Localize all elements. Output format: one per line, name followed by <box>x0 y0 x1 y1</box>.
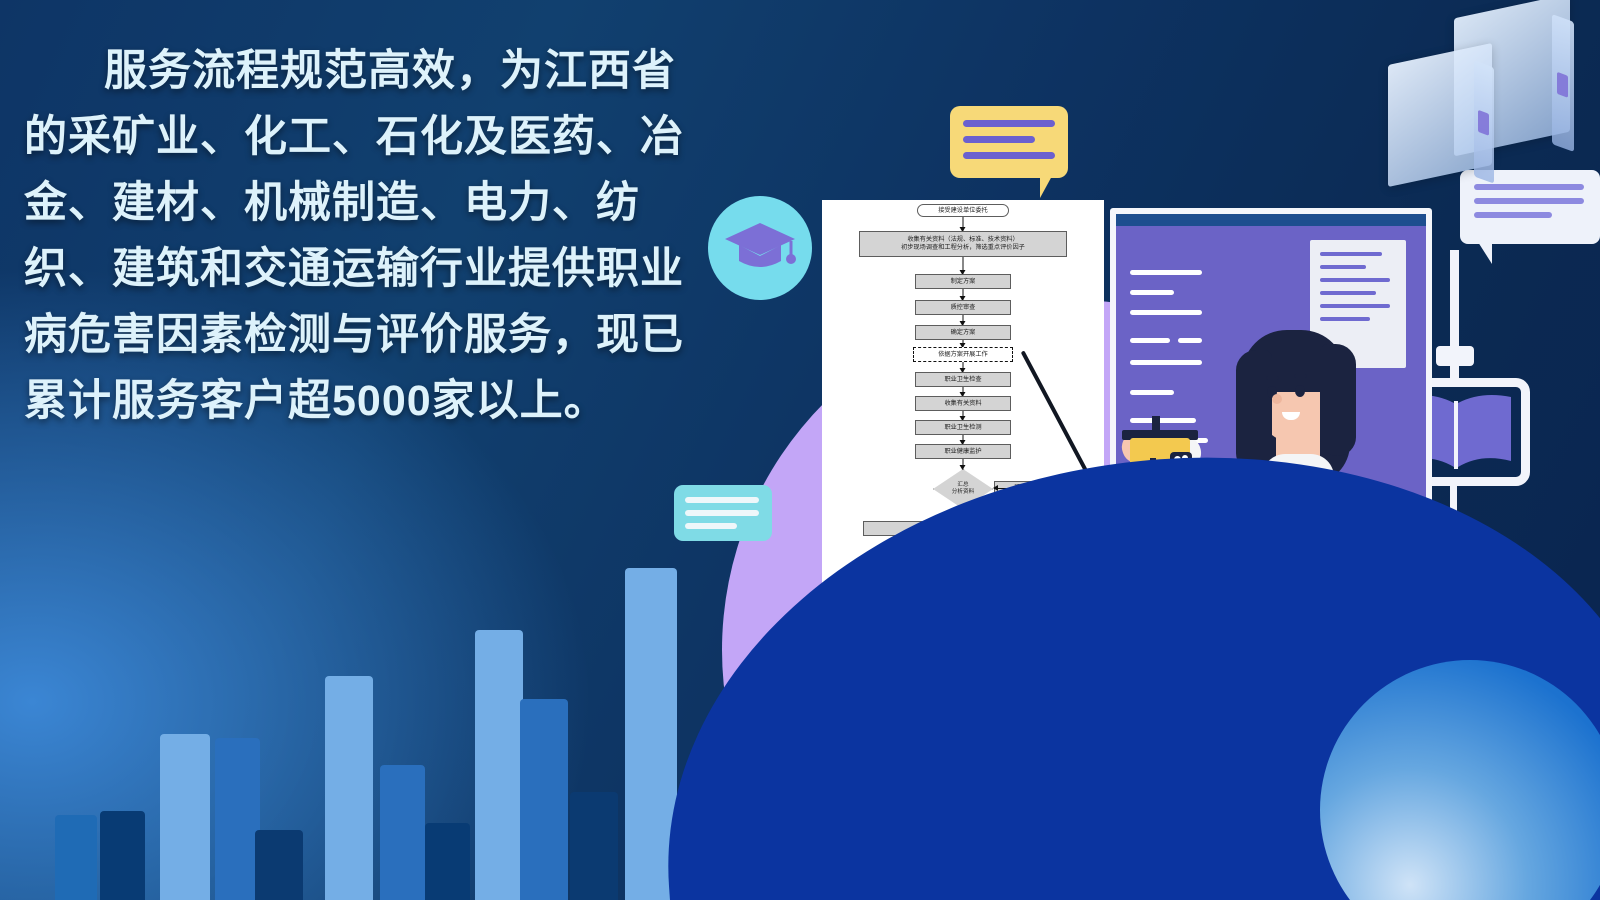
book-tab <box>1478 110 1489 136</box>
poster-line <box>1320 252 1382 256</box>
nose <box>1272 394 1282 404</box>
bubble-line <box>963 120 1055 127</box>
flow-step-collect: 收集有关资料（法规、标准、技术资料） 初步现场调查和工程分析，筛选重点评价因子 <box>859 231 1067 257</box>
board-line <box>1130 360 1202 365</box>
chart-bar <box>325 676 373 900</box>
speech-bubble-white <box>1460 170 1600 244</box>
board-line <box>1130 390 1174 395</box>
flow-arrow <box>963 315 964 325</box>
bubble-tail <box>1040 176 1052 198</box>
board-line <box>1130 338 1170 343</box>
headline-line-2: 的采矿业、化工、石化及医药、冶 <box>24 104 769 170</box>
bubble-line <box>1474 184 1584 190</box>
flow-arrow <box>963 217 964 231</box>
bubble-line <box>685 510 759 516</box>
flow-step-gather: 收集有关资料 <box>915 396 1011 411</box>
flow-step-accept: 接受建设单位委托 <box>917 204 1009 217</box>
flow-arrow <box>963 362 964 372</box>
bubble-tail <box>1478 242 1492 264</box>
chart-bar <box>520 699 568 900</box>
poster-line <box>1320 291 1376 295</box>
eyebrow-right <box>1294 374 1307 378</box>
flow-arrow <box>963 387 964 396</box>
flow-decision-label: 汇总 分析资料 <box>952 482 974 496</box>
chart-bar <box>55 815 97 900</box>
poster-line <box>1320 278 1390 282</box>
flow-step-execute: 依据方案开展工作 <box>913 347 1013 362</box>
bubble-line <box>685 523 737 529</box>
bubble-line <box>963 136 1035 143</box>
flow-arrow <box>963 435 964 444</box>
bubble-line <box>685 497 759 503</box>
graduation-cap-icon <box>723 221 797 275</box>
chart-bar <box>255 830 303 900</box>
hair-right <box>1320 344 1356 456</box>
headline-line-5: 病危害因素检测与评价服务，现已 <box>24 302 769 368</box>
headline-line-4: 织、建筑和交通运输行业提供职业 <box>24 236 769 302</box>
chart-bar <box>160 734 210 900</box>
speech-bubble-yellow <box>950 106 1068 178</box>
board-line <box>1178 338 1202 343</box>
flow-arrow <box>963 257 964 274</box>
flow-step-hygiene: 职业卫生检查 <box>915 372 1011 387</box>
flow-step-plan: 制定方案 <box>915 274 1011 289</box>
stacked-books-icon <box>1382 6 1597 181</box>
open-book-knob <box>1436 346 1474 366</box>
chart-bar <box>475 630 523 900</box>
headline-text-block: 服务流程规范高效，为江西省 的采矿业、化工、石化及医药、冶 金、建材、机械制造、… <box>24 38 769 434</box>
board-top-rail <box>1116 214 1426 226</box>
board-line <box>1130 290 1174 295</box>
chart-bar <box>100 811 145 900</box>
flow-arrow <box>963 411 964 420</box>
eyebrow-left <box>1266 376 1279 380</box>
flow-arrow <box>963 289 964 300</box>
bubble-line <box>1474 212 1552 218</box>
chart-bar <box>425 823 470 900</box>
book-back-spine <box>1552 14 1574 152</box>
flow-arrow <box>963 459 964 469</box>
graduation-cap-badge <box>708 196 812 300</box>
headline-line-3: 金、建材、机械制造、电力、纺 <box>24 170 769 236</box>
eye-right <box>1295 385 1305 397</box>
flow-step-confirm: 确定方案 <box>915 325 1011 340</box>
background-bar-chart <box>0 480 700 900</box>
speech-bubble-cyan <box>674 485 772 541</box>
flow-step-detect: 职业卫生检测 <box>915 420 1011 435</box>
board-line <box>1130 418 1196 423</box>
poster-line <box>1320 304 1390 308</box>
headline-line-6: 累计服务客户超5000家以上。 <box>24 368 769 434</box>
headline-line-1: 服务流程规范高效，为江西省 <box>24 38 769 104</box>
poster-line <box>1320 317 1370 321</box>
book-tab <box>1557 72 1568 98</box>
board-line <box>1130 310 1202 315</box>
poster-line <box>1320 265 1366 269</box>
chart-bar <box>570 792 618 900</box>
chart-bar <box>380 765 425 900</box>
bubble-line <box>1474 198 1584 204</box>
chart-bar <box>215 738 260 900</box>
flow-step-health: 职业健康监护 <box>915 444 1011 459</box>
poster-canvas: 服务流程规范高效，为江西省 的采矿业、化工、石化及医药、冶 金、建材、机械制造、… <box>0 0 1600 900</box>
flow-arrow <box>963 340 964 347</box>
flow-step-qc1: 质控审查 <box>915 300 1011 315</box>
book-front-spine <box>1474 60 1494 183</box>
bubble-line <box>963 152 1055 159</box>
board-line <box>1130 270 1202 275</box>
